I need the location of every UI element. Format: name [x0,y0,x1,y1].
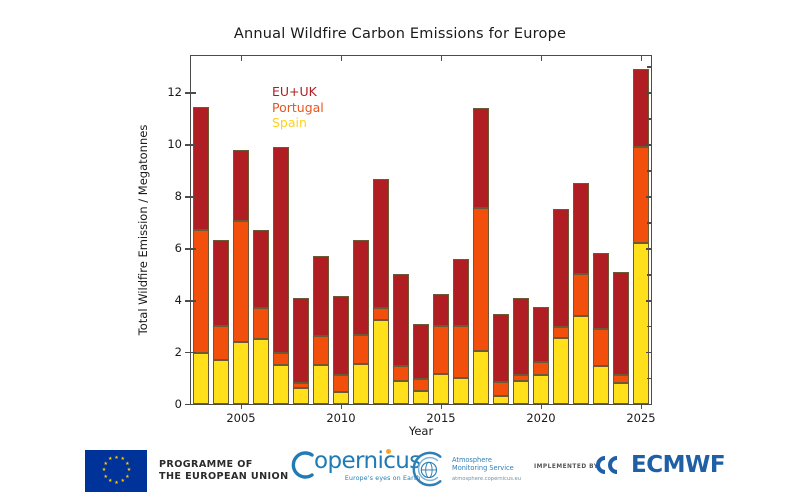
bar-segment-spain-2012 [373,320,389,404]
x-tick-mark [641,404,642,409]
x-tick-label: 2025 [626,411,655,425]
bar-segment-portugal-2011 [353,335,369,364]
x-tick-mark-top [541,56,542,61]
bar-segment-portugal-2007 [273,353,289,365]
bar-segment-spain-2020 [533,375,549,404]
y-tick-label: 2 [175,345,182,359]
bar-segment-euuk-2007 [273,147,289,353]
eu-star-icon: ★ [108,458,111,461]
y-tick-minor-right [647,144,651,145]
bar-2020 [533,307,549,404]
bar-segment-portugal-2023 [593,329,609,367]
bar-segment-spain-2004 [213,360,229,404]
plot-area: 024681012 20052010201520202025 [190,55,652,405]
bar-segment-portugal-2018 [493,382,509,396]
copernicus-dot-icon [386,449,391,454]
y-tick-mark-inner [191,196,196,197]
bar-segment-portugal-2005 [233,221,249,342]
bar-segment-spain-2010 [333,392,349,404]
bar-2023 [593,253,609,404]
bar-2007 [273,147,289,404]
y-tick-mark-inner [191,352,196,353]
cams-globe-icon [408,450,446,488]
bar-segment-spain-2007 [273,365,289,404]
x-tick-mark [441,404,442,409]
bar-2018 [493,314,509,404]
bar-segment-portugal-2021 [553,327,569,337]
copernicus-wordmark: opernicus [314,448,421,474]
bar-2022 [573,183,589,404]
bar-segment-portugal-2020 [533,362,549,375]
cams-logo: Atmosphere Monitoring Service atmosphere… [408,450,521,488]
y-tick-mark-right [646,404,651,405]
copernicus-c-icon [288,450,314,480]
y-tick-minor-right [647,196,651,197]
y-axis-label: Total Wildfire Emission / Megatonnes [136,125,150,336]
y-tick-minor-right [647,222,651,223]
legend-item-euuk: EU+UK [272,84,324,100]
bar-2009 [313,256,329,404]
y-tick-minor-right [647,352,651,353]
x-tick-mark [241,404,242,409]
bar-segment-spain-2008 [293,388,309,404]
bar-segment-euuk-2021 [553,209,569,327]
bar-segment-spain-2023 [593,366,609,404]
eu-star-icon: ★ [125,476,128,479]
x-tick-label: 2015 [426,411,455,425]
bar-segment-portugal-2019 [513,375,529,380]
y-tick-label: 12 [167,85,182,99]
bar-2016 [453,259,469,404]
footer-logos: ★★★★★★★★★★★★ PROGRAMME OF THE EUROPEAN U… [0,440,800,503]
bar-segment-euuk-2011 [353,240,369,335]
bar-segment-euuk-2022 [573,183,589,274]
x-tick-label: 2020 [526,411,555,425]
bar-segment-euuk-2020 [533,307,549,363]
eu-star-icon: ★ [103,476,106,479]
chart-title: Annual Wildfire Carbon Emissions for Eur… [0,26,800,42]
bar-segment-euuk-2024 [613,272,629,376]
bar-2014 [413,324,429,405]
bar-segment-euuk-2017 [473,108,489,208]
y-tick-minor-right [647,274,651,275]
eu-star-icon: ★ [114,457,117,460]
bar-segment-spain-2015 [433,374,449,404]
bar-segment-spain-2019 [513,381,529,404]
bar-segment-portugal-2004 [213,326,229,360]
bar-2015 [433,294,449,404]
bar-2021 [553,209,569,404]
eu-programme-text: PROGRAMME OF THE EUROPEAN UNION [159,459,289,483]
bar-2019 [513,298,529,404]
bar-segment-euuk-2019 [513,298,529,376]
bar-2003 [193,107,209,404]
bar-2005 [233,150,249,405]
legend-item-spain: Spain [272,115,324,131]
y-tick-mark-inner [191,248,196,249]
cams-line2: Monitoring Service [452,464,521,472]
y-tick-label: 10 [167,137,182,151]
bar-segment-euuk-2025 [633,69,649,147]
cams-url: atmosphere.copernicus.eu [452,476,521,482]
copernicus-logo: opernicus Europe's eyes on Earth [288,448,421,482]
y-tick-minor-right [647,170,651,171]
eu-star-icon: ★ [108,480,111,483]
ecmwf-logo: ECMWF [592,452,725,478]
x-tick-mark-top [241,56,242,61]
x-tick-label: 2010 [326,411,355,425]
chart-legend: EU+UK Portugal Spain [272,84,324,131]
bar-2017 [473,108,489,404]
bar-segment-spain-2005 [233,342,249,404]
bar-segment-spain-2003 [193,353,209,404]
bar-2024 [613,272,629,404]
chart-page: Annual Wildfire Carbon Emissions for Eur… [0,0,800,503]
x-tick-mark-top [641,56,642,61]
bar-2012 [373,179,389,404]
bar-segment-spain-2025 [633,243,649,404]
bar-segment-portugal-2025 [633,147,649,243]
y-tick-label: 4 [175,293,182,307]
bar-2010 [333,296,349,404]
bar-segment-euuk-2005 [233,150,249,221]
bar-segment-spain-2016 [453,378,469,404]
bar-2006 [253,230,269,404]
x-tick-label: 2005 [226,411,255,425]
legend-item-portugal: Portugal [272,100,324,116]
bar-2008 [293,298,309,404]
copernicus-wordmark-wrap: opernicus Europe's eyes on Earth [314,448,421,482]
bar-segment-spain-2018 [493,396,509,404]
eu-star-icon: ★ [102,469,105,472]
y-tick-minor-right [647,118,651,119]
copernicus-tagline: Europe's eyes on Earth [314,475,421,482]
bar-segment-portugal-2008 [293,383,309,388]
bar-segment-euuk-2016 [453,259,469,327]
eu-star-icon: ★ [121,458,124,461]
y-tick-mark-inner [191,300,196,301]
bar-segment-euuk-2018 [493,314,509,382]
eu-star-icon: ★ [114,482,117,485]
eu-flag-icon: ★★★★★★★★★★★★ [85,450,147,492]
ecmwf-wordmark: ECMWF [631,452,725,478]
y-tick-minor-right [647,300,651,301]
bar-segment-euuk-2010 [333,296,349,375]
bar-segment-euuk-2015 [433,294,449,326]
chart-figure: Annual Wildfire Carbon Emissions for Eur… [0,0,800,440]
bar-segment-spain-2017 [473,351,489,404]
y-tick-label: 8 [175,189,182,203]
bar-segment-portugal-2006 [253,308,269,339]
bars-container [191,56,651,404]
y-tick-minor-right [647,378,651,379]
bar-2004 [213,240,229,404]
bar-segment-euuk-2013 [393,274,409,366]
bar-segment-portugal-2013 [393,366,409,380]
bar-segment-euuk-2023 [593,253,609,328]
bar-segment-euuk-2009 [313,256,329,337]
bar-segment-spain-2021 [553,338,569,404]
eu-star-icon: ★ [121,480,124,483]
y-tick-mark-inner [191,404,196,405]
x-tick-mark [341,404,342,409]
eu-programme-line1: PROGRAMME OF [159,459,289,471]
bar-segment-euuk-2004 [213,240,229,326]
bar-segment-portugal-2015 [433,326,449,374]
bar-segment-portugal-2017 [473,208,489,351]
eu-star-icon: ★ [103,463,106,466]
cams-line1: Atmosphere [452,456,521,464]
bar-segment-spain-2014 [413,391,429,404]
bar-segment-spain-2024 [613,383,629,404]
bar-segment-euuk-2003 [193,107,209,230]
bar-segment-spain-2009 [313,365,329,404]
eu-star-icon: ★ [125,463,128,466]
x-tick-mark-top [441,56,442,61]
y-tick-minor-right [647,248,651,249]
bar-segment-euuk-2012 [373,179,389,308]
bar-segment-portugal-2014 [413,379,429,391]
bar-segment-portugal-2024 [613,375,629,383]
bar-segment-euuk-2014 [413,324,429,380]
eu-programme-line2: THE EUROPEAN UNION [159,471,289,483]
bar-segment-portugal-2009 [313,336,329,365]
y-tick-minor-right [647,92,651,93]
bar-2013 [393,274,409,404]
bar-segment-spain-2013 [393,381,409,404]
ecmwf-rings-icon [592,455,626,475]
bar-2011 [353,240,369,404]
bar-segment-euuk-2008 [293,298,309,384]
eu-star-icon: ★ [127,469,130,472]
eu-programme-logo: ★★★★★★★★★★★★ PROGRAMME OF THE EUROPEAN U… [85,450,289,492]
bar-segment-portugal-2022 [573,274,589,316]
bar-segment-spain-2006 [253,339,269,404]
x-axis-label: Year [409,424,433,438]
y-tick-label: 0 [175,397,182,411]
implemented-by-label: IMPLEMENTED BY [534,464,598,470]
y-tick-minor-right [647,66,651,67]
bar-segment-spain-2022 [573,316,589,404]
y-tick-mark-inner [191,92,196,93]
x-tick-mark-top [341,56,342,61]
bar-segment-portugal-2010 [333,375,349,392]
y-tick-mark-inner [191,144,196,145]
y-tick-minor-right [647,326,651,327]
y-tick-label: 6 [175,241,182,255]
bar-segment-portugal-2016 [453,326,469,378]
cams-text: Atmosphere Monitoring Service atmosphere… [452,456,521,482]
x-tick-mark [541,404,542,409]
bar-segment-euuk-2006 [253,230,269,308]
bar-segment-portugal-2012 [373,308,389,320]
bar-segment-spain-2011 [353,364,369,404]
